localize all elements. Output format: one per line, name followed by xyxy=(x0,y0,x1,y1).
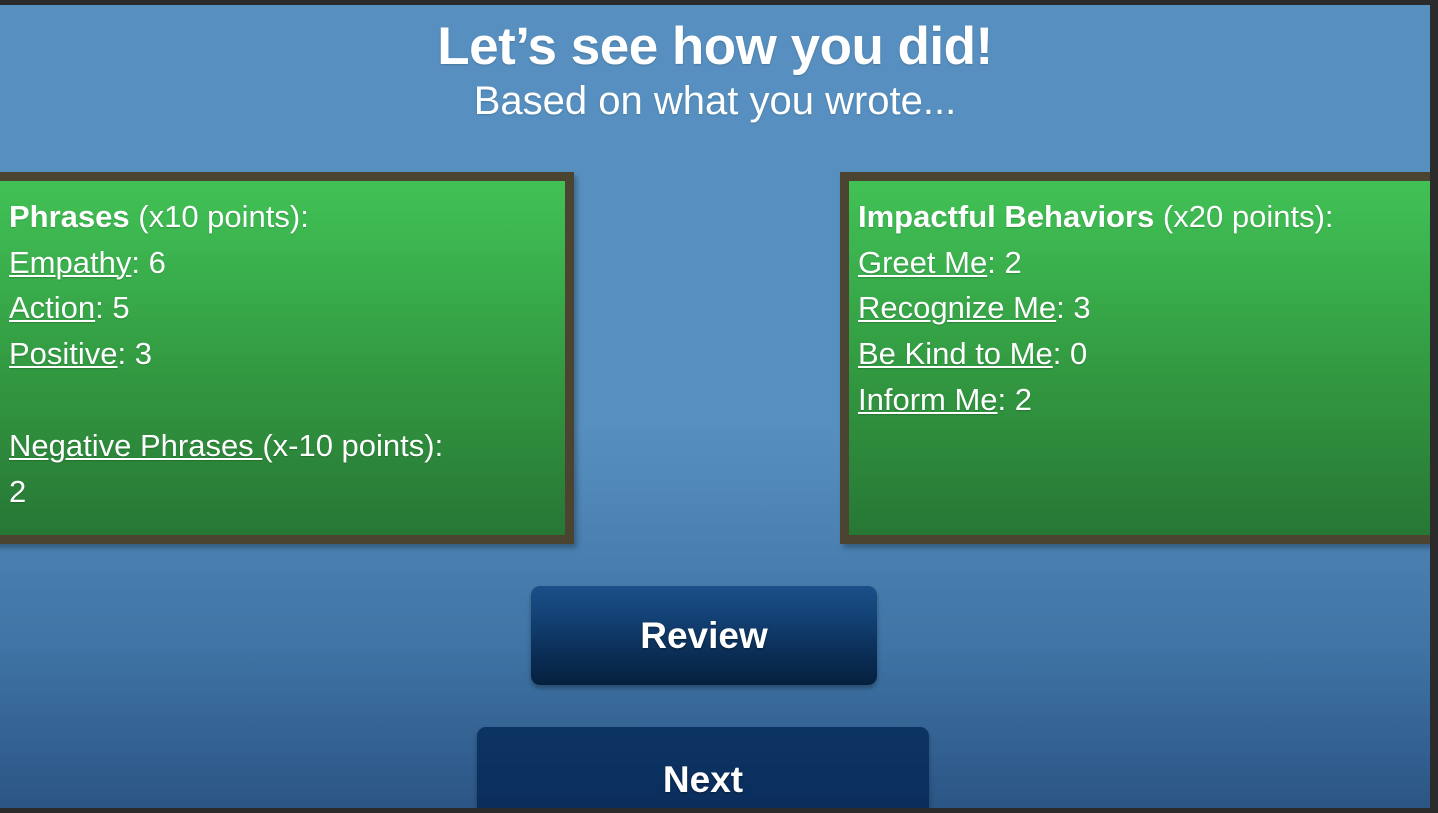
phrases-heading-label: Phrases xyxy=(9,199,130,234)
negative-phrases-heading-suffix: (x-10 points): xyxy=(262,428,443,463)
score-value-action: 5 xyxy=(112,290,129,325)
results-screen: Let’s see how you did! Based on what you… xyxy=(0,5,1430,808)
behaviors-score-panel: Impactful Behaviors (x20 points): Greet … xyxy=(840,172,1430,544)
score-value-inform-me: 2 xyxy=(1015,382,1032,417)
next-button[interactable]: Next xyxy=(477,727,929,808)
score-row-empathy: Empathy: 6 xyxy=(9,240,553,286)
phrases-heading-suffix: (x10 points): xyxy=(130,199,309,234)
score-value-greet-me: 2 xyxy=(1004,245,1021,280)
score-sep: : xyxy=(118,336,135,371)
score-value-recognize-me: 3 xyxy=(1073,290,1090,325)
score-label-positive: Positive xyxy=(9,336,118,371)
score-value-empathy: 6 xyxy=(149,245,166,280)
score-label-inform-me: Inform Me xyxy=(858,382,998,417)
score-label-action: Action xyxy=(9,290,95,325)
score-label-recognize-me: Recognize Me xyxy=(858,290,1056,325)
header-block: Let’s see how you did! Based on what you… xyxy=(0,19,1430,123)
negative-phrases-value: 2 xyxy=(9,469,553,515)
score-sep: : xyxy=(131,245,148,280)
score-row-recognize-me: Recognize Me: 3 xyxy=(858,285,1426,331)
score-label-greet-me: Greet Me xyxy=(858,245,987,280)
score-sep: : xyxy=(1053,336,1070,371)
score-row-be-kind-to-me: Be Kind to Me: 0 xyxy=(858,331,1426,377)
score-value-positive: 3 xyxy=(135,336,152,371)
score-row-greet-me: Greet Me: 2 xyxy=(858,240,1426,286)
behaviors-heading-suffix: (x20 points): xyxy=(1154,199,1333,234)
score-sep: : xyxy=(1056,290,1073,325)
phrases-score-panel: Phrases (x10 points): Empathy: 6 Action:… xyxy=(0,172,574,544)
score-sep: : xyxy=(95,290,112,325)
score-row-inform-me: Inform Me: 2 xyxy=(858,377,1426,423)
score-label-be-kind-to-me: Be Kind to Me xyxy=(858,336,1053,371)
page-title: Let’s see how you did! xyxy=(0,19,1430,75)
phrases-heading: Phrases (x10 points): xyxy=(9,194,553,240)
page-subtitle: Based on what you wrote... xyxy=(0,79,1430,123)
negative-phrases-heading: Negative Phrases (x-10 points): xyxy=(9,423,553,469)
behaviors-heading-label: Impactful Behaviors xyxy=(858,199,1154,234)
behaviors-heading: Impactful Behaviors (x20 points): xyxy=(858,194,1426,240)
score-value-be-kind-to-me: 0 xyxy=(1070,336,1087,371)
score-row-positive: Positive: 3 xyxy=(9,331,553,377)
score-sep: : xyxy=(987,245,1004,280)
panel-spacer xyxy=(9,377,553,423)
review-button[interactable]: Review xyxy=(531,586,877,685)
app-window: Let’s see how you did! Based on what you… xyxy=(0,0,1438,813)
score-row-action: Action: 5 xyxy=(9,285,553,331)
score-label-empathy: Empathy xyxy=(9,245,131,280)
negative-phrases-heading-label: Negative Phrases xyxy=(9,428,262,463)
score-sep: : xyxy=(998,382,1015,417)
